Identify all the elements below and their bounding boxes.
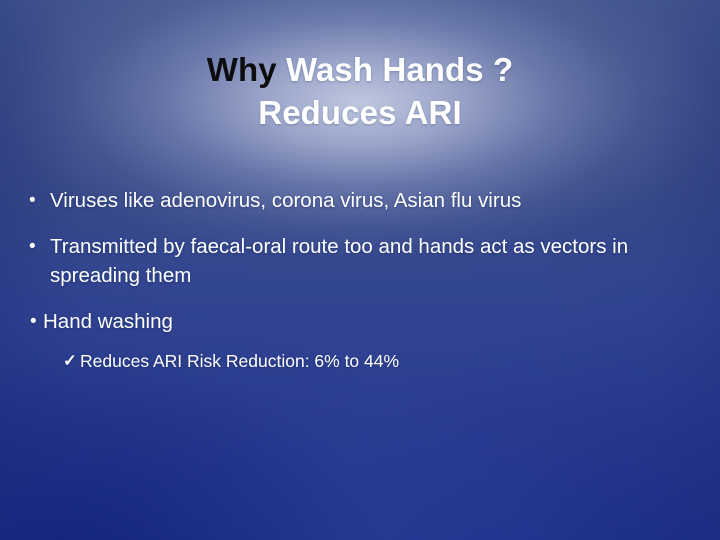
- slide-title: Why Wash Hands ? Reduces ARI: [0, 48, 720, 134]
- check-mark-icon: [63, 349, 80, 374]
- title-line-2: Reduces ARI: [0, 91, 720, 134]
- list-item-label: Hand washing: [43, 307, 173, 336]
- slide-body: Viruses like adenovirus, corona virus, A…: [0, 186, 720, 374]
- sub-list-item: Reduces ARI Risk Reduction: 6% to 44%: [0, 349, 720, 374]
- bullet-dot-icon: [29, 186, 50, 215]
- title-text-wash-hands: Wash Hands ?: [286, 51, 513, 88]
- sub-list-item-label: Reduces ARI Risk Reduction: 6% to 44%: [80, 349, 399, 374]
- bullet-dot-icon: [29, 232, 50, 261]
- list-item-label: Viruses like adenovirus, corona virus, A…: [50, 186, 521, 215]
- list-item: Hand washing: [0, 307, 720, 336]
- slide-canvas: Why Wash Hands ? Reduces ARI Viruses lik…: [0, 0, 720, 540]
- bullet-dot-icon: [30, 307, 43, 336]
- title-word-why: Why: [207, 51, 286, 88]
- list-item-label: Transmitted by faecal-oral route too and…: [50, 232, 676, 290]
- title-line-1: Why Wash Hands ?: [0, 48, 720, 91]
- list-item: Transmitted by faecal-oral route too and…: [0, 232, 720, 290]
- list-item: Viruses like adenovirus, corona virus, A…: [0, 186, 720, 215]
- slide-content: Why Wash Hands ? Reduces ARI Viruses lik…: [0, 0, 720, 540]
